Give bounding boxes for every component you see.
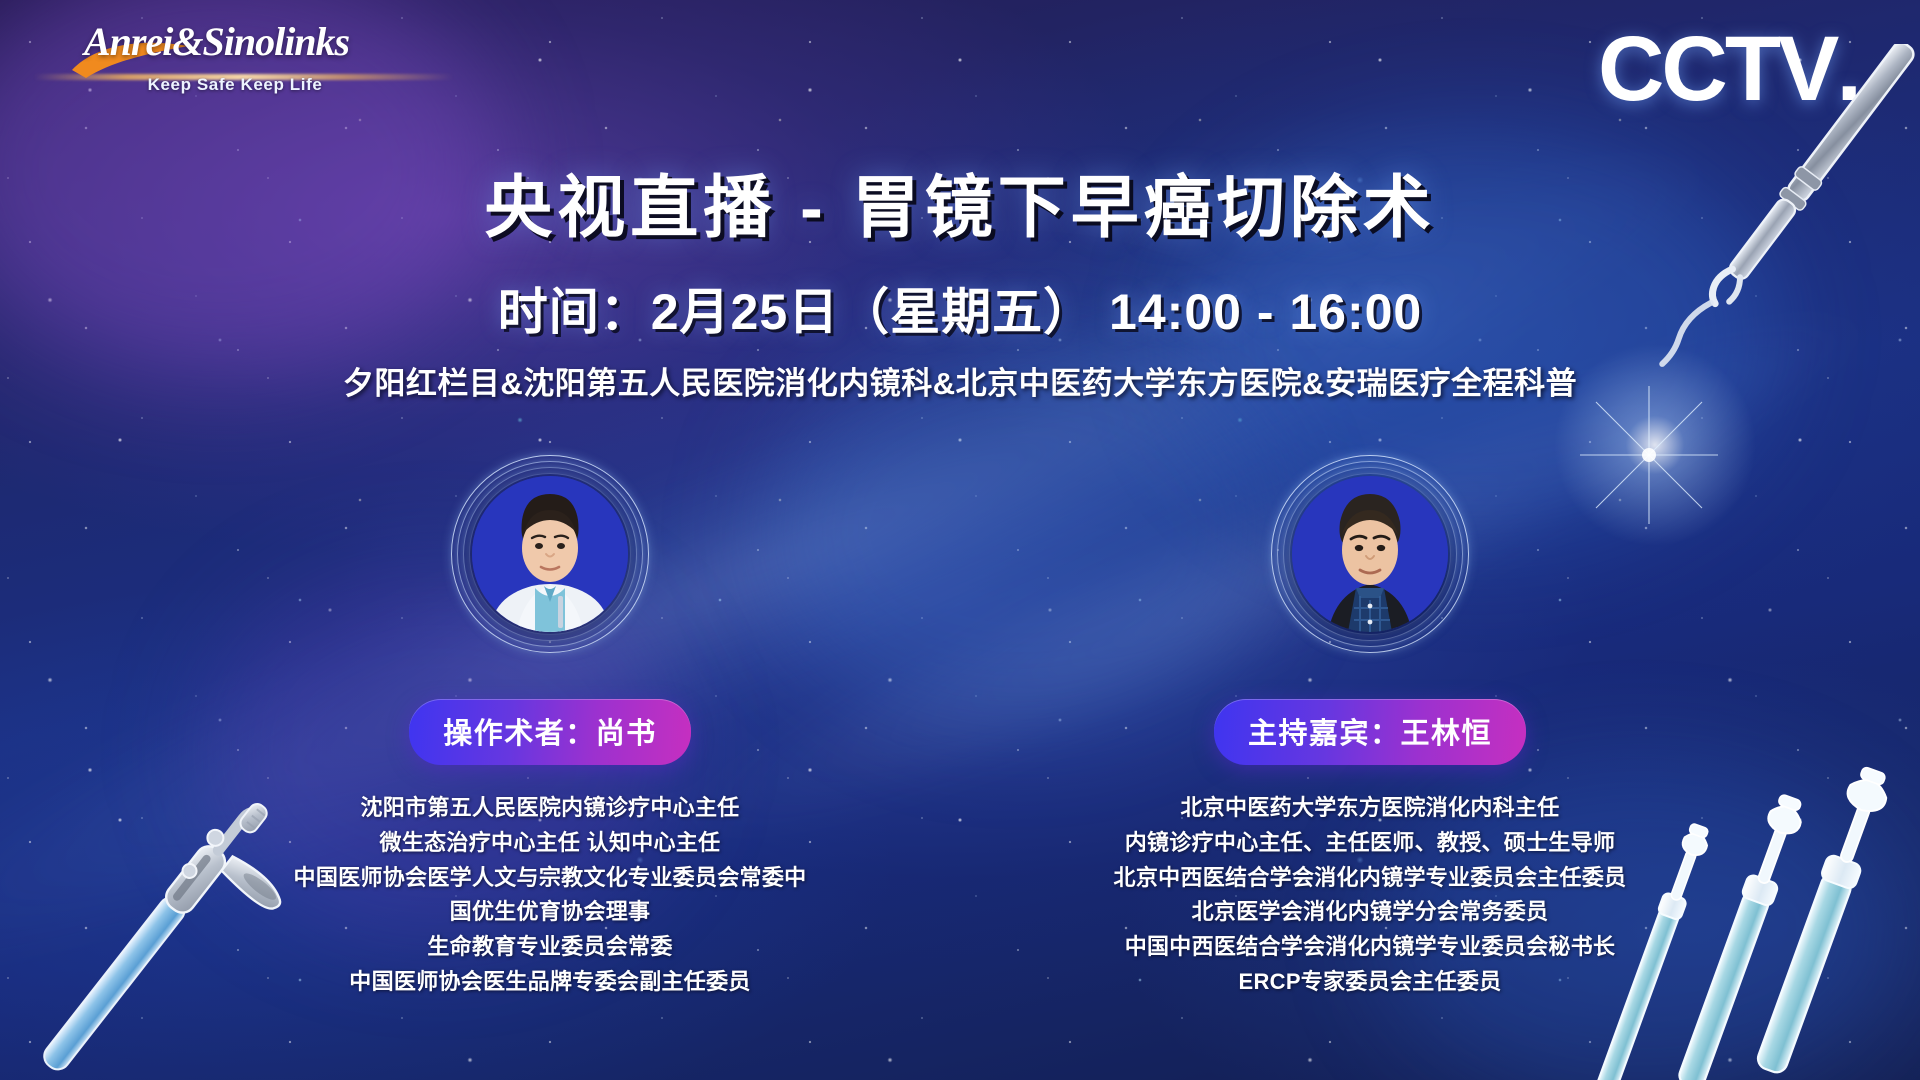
credential-item: 中国中西医结合学会消化内镜学专业委员会秘书长 [1114, 930, 1627, 965]
credential-item: ERCP专家委员会主任委员 [1114, 965, 1627, 1000]
credential-item: 中国医师协会医生品牌专委会副主任委员 [294, 965, 807, 1000]
credential-item: 沈阳市第五人民医院内镜诊疗中心主任 [294, 791, 807, 826]
credential-item: 国优生优育协会理事 [294, 895, 807, 930]
cctv-logo: CCTV. [1598, 26, 1862, 113]
credentials-list: 北京中医药大学东方医院消化内科主任 内镜诊疗中心主任、主任医师、教授、硕士生导师… [1114, 791, 1627, 1000]
credential-item: 微生态治疗中心主任 认知中心主任 [294, 826, 807, 861]
brand-name: Anrei&Sinolinks [70, 18, 400, 65]
credential-item: 北京中医药大学东方医院消化内科主任 [1114, 791, 1627, 826]
event-time: 时间：2月25日（星期五） 14:00 - 16:00 [0, 272, 1920, 344]
organizers-line: 夕阳红栏目&沈阳第五人民医院消化内镜科&北京中医药大学东方医院&安瑞医疗全程科普 [0, 358, 1920, 403]
credentials-list: 沈阳市第五人民医院内镜诊疗中心主任 微生态治疗中心主任 认知中心主任 中国医师协… [294, 791, 807, 1000]
speaker-card-operator: 操作术者：尚书 沈阳市第五人民医院内镜诊疗中心主任 微生态治疗中心主任 认知中心… [290, 455, 810, 1000]
host-portrait-icon [1292, 476, 1448, 632]
avatar [472, 476, 628, 632]
credential-item: 生命教育专业委员会常委 [294, 930, 807, 965]
speaker-card-host: 主持嘉宾：王林恒 北京中医药大学东方医院消化内科主任 内镜诊疗中心主任、主任医师… [1110, 455, 1630, 1000]
poster-background: Anrei&Sinolinks Keep Safe Keep Life CCTV… [0, 0, 1920, 1080]
speaker-name-badge: 操作术者：尚书 [409, 699, 691, 765]
speaker-name-badge: 主持嘉宾：王林恒 [1214, 699, 1526, 765]
avatar-halo [1271, 455, 1469, 653]
doctor-portrait-icon [472, 476, 628, 632]
credential-item: 中国医师协会医学人文与宗教文化专业委员会常委中 [294, 861, 807, 896]
avatar [1292, 476, 1448, 632]
cctv-logo-text: CCTV [1598, 18, 1836, 120]
brand-logo: Anrei&Sinolinks Keep Safe Keep Life [70, 18, 400, 95]
credential-item: 北京医学会消化内镜学分会常务委员 [1114, 895, 1627, 930]
avatar-halo [451, 455, 649, 653]
credential-item: 北京中西医结合学会消化内镜学专业委员会主任委员 [1114, 861, 1627, 896]
page-title: 央视直播 - 胃镜下早癌切除术 [0, 152, 1920, 251]
credential-item: 内镜诊疗中心主任、主任医师、教授、硕士生导师 [1114, 826, 1627, 861]
cctv-logo-dot: . [1836, 18, 1862, 120]
speakers-section: 操作术者：尚书 沈阳市第五人民医院内镜诊疗中心主任 微生态治疗中心主任 认知中心… [0, 455, 1920, 1000]
